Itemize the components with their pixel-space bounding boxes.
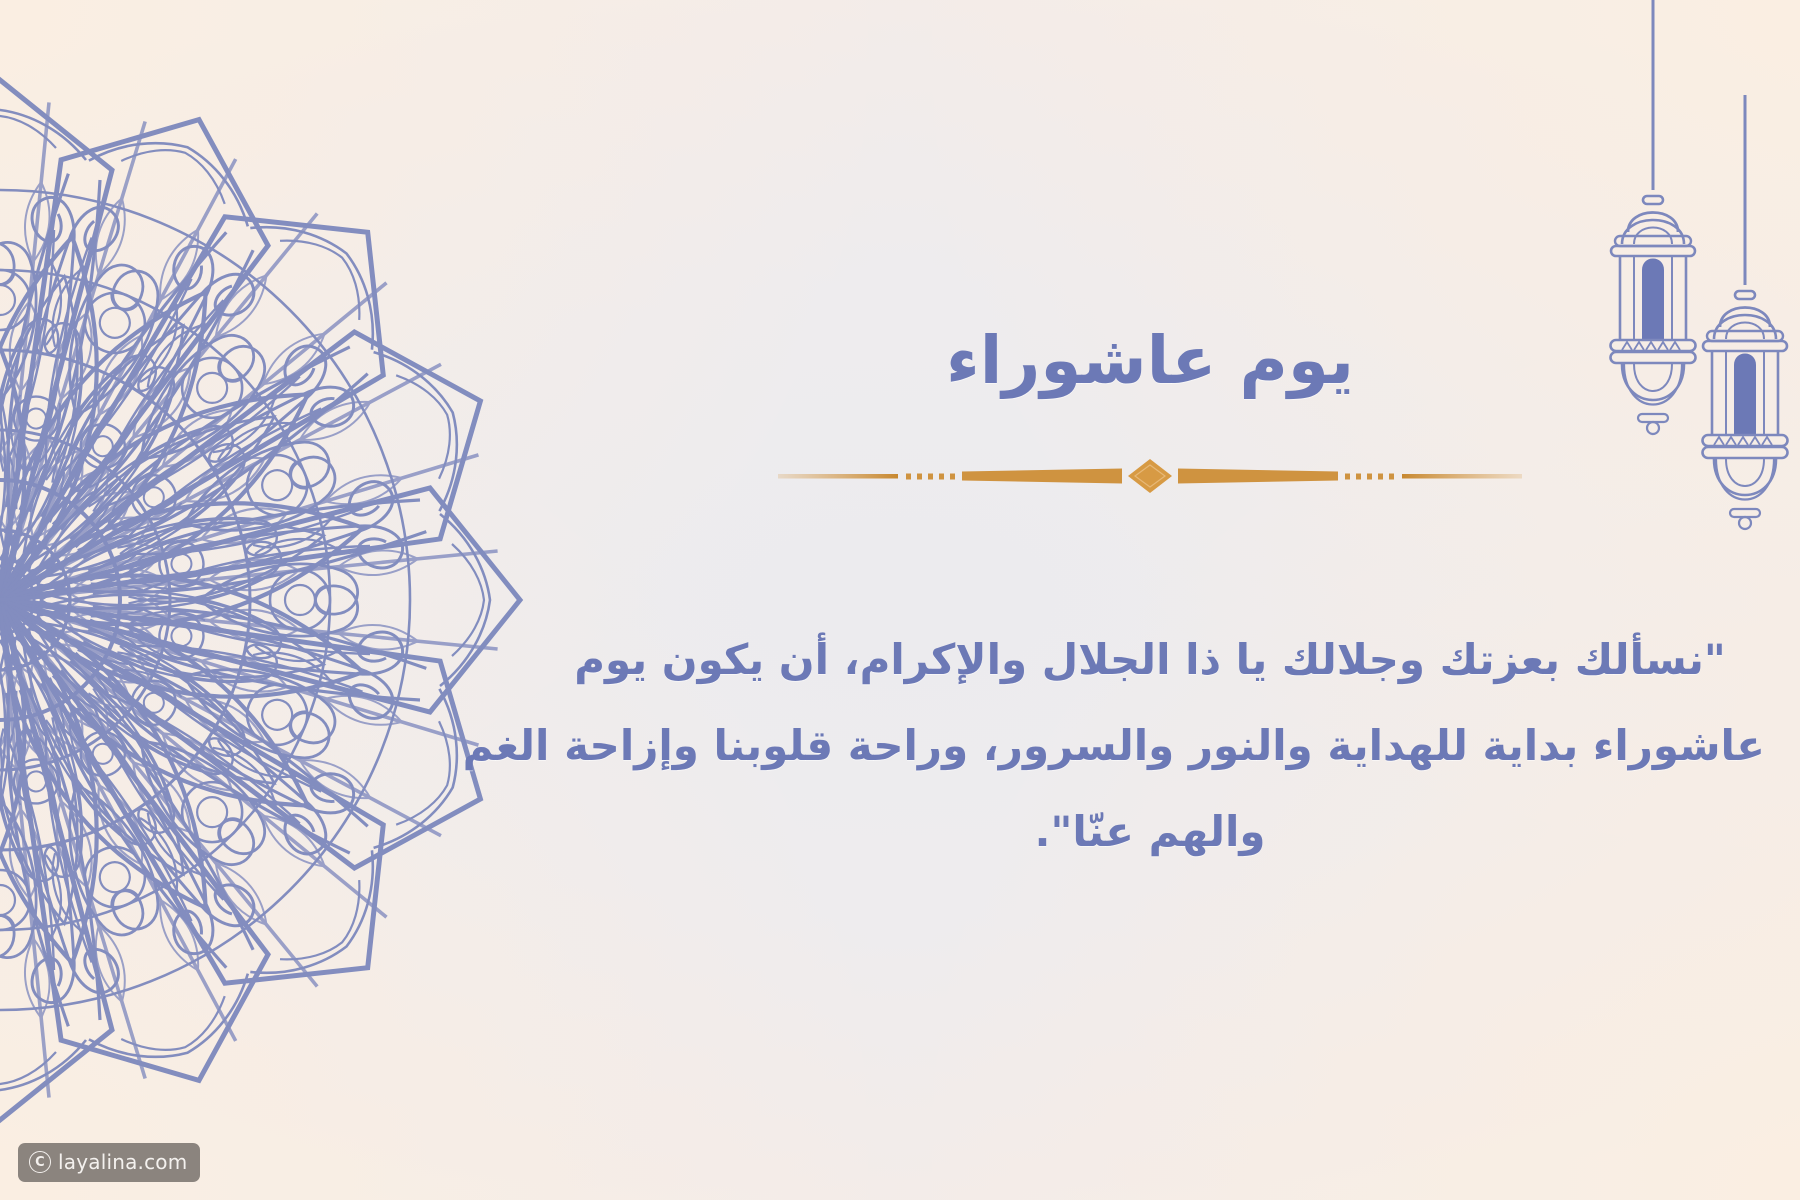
- quote-line-1: "نسألك بعزتك وجلالك يا ذا الجلال والإكرا…: [535, 617, 1765, 703]
- ornamental-gold-divider: [770, 453, 1530, 499]
- copyright-icon: C: [29, 1151, 51, 1173]
- quote-line-3: والهم عنّا".: [535, 789, 1765, 875]
- quote-text: "نسألك بعزتك وجلالك يا ذا الجلال والإكرا…: [535, 617, 1765, 875]
- watermark: C layalina.com: [18, 1143, 200, 1182]
- card-content: يوم عاشوراء: [500, 0, 1800, 1200]
- islamic-mandala-pattern: [0, 40, 560, 1160]
- quote-line-2: عاشوراء بداية للهداية والنور والسرور، ور…: [535, 703, 1765, 789]
- greeting-card: يوم عاشوراء: [0, 0, 1800, 1200]
- page-title: يوم عاشوراء: [946, 325, 1354, 398]
- watermark-text: layalina.com: [58, 1150, 187, 1174]
